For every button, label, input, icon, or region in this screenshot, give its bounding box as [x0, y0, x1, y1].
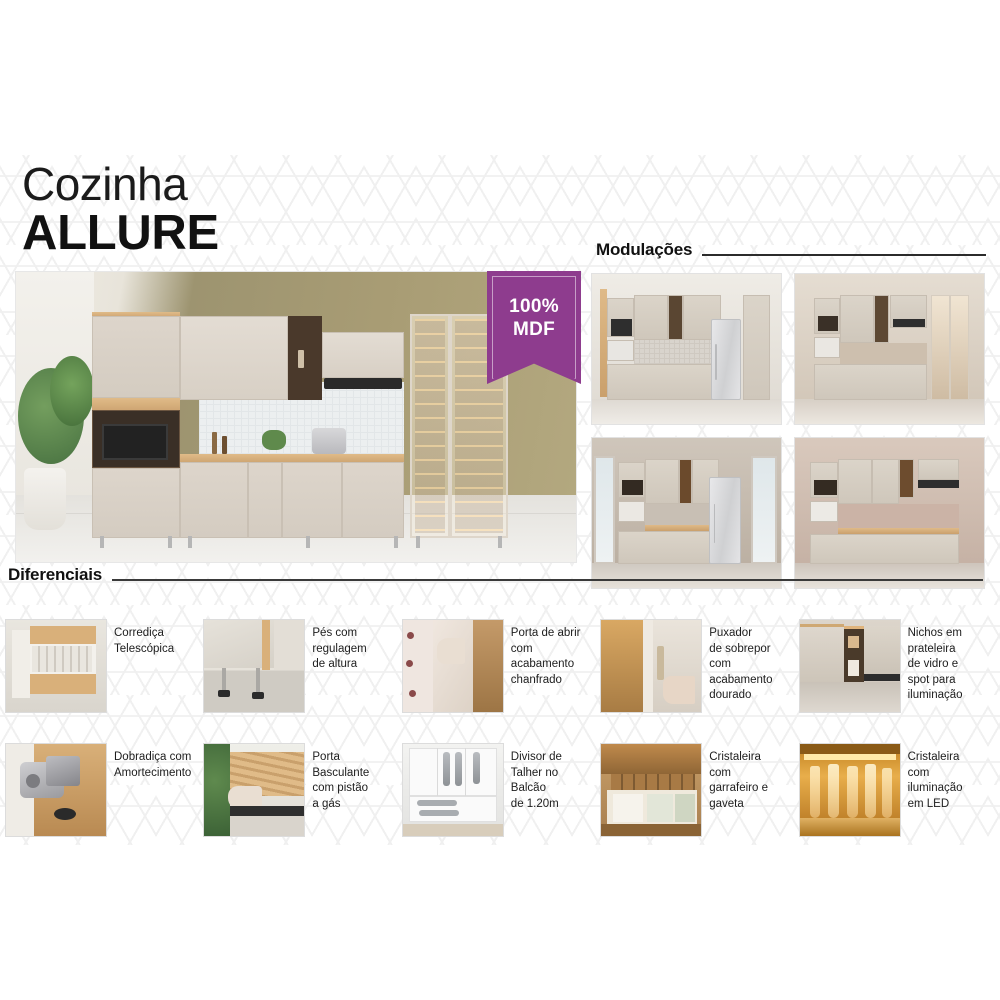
feature-item[interactable]: Nichos em prateleira de vidro e spot par…: [800, 612, 994, 722]
modulation-thumb-2[interactable]: [795, 274, 984, 424]
pes-regulagem-thumb: [204, 620, 304, 712]
badge-line-1: 100%: [487, 295, 581, 318]
feature-item[interactable]: Puxador de sobrepor com acabamento doura…: [601, 612, 795, 722]
modulacoes-heading: Modulações: [596, 240, 986, 260]
corredica-telescopica-thumb: [6, 620, 106, 712]
badge-text: 100% MDF: [487, 295, 581, 341]
feature-item[interactable]: Cristaleira com iluminação em LED: [800, 736, 994, 846]
feature-item[interactable]: Cristaleira com garrafeiro e gaveta: [601, 736, 795, 846]
diferenciais-label: Diferenciais: [8, 565, 102, 585]
badge-line-2: MDF: [487, 318, 581, 341]
modulation-thumb-1[interactable]: [592, 274, 781, 424]
cristaleira-led-thumb: [800, 744, 900, 836]
diferenciais-heading: Diferenciais: [8, 565, 983, 585]
feature-item[interactable]: Corrediça Telescópica: [6, 612, 200, 722]
modulations-grid: [592, 274, 984, 588]
feature-label: Dobradiça com Amortecimento: [114, 750, 191, 781]
page-title: Cozinha ALLURE: [22, 160, 219, 258]
modulacoes-label: Modulações: [596, 240, 692, 260]
feature-item[interactable]: Pés com regulagem de altura: [204, 612, 398, 722]
title-line-allure: ALLURE: [22, 208, 219, 258]
feature-item[interactable]: Divisor de Talher no Balcão de 1.20m: [403, 736, 597, 846]
feature-item[interactable]: Porta de abrir com acabamento chanfrado: [403, 612, 597, 722]
feature-label: Nichos em prateleira de vidro e spot par…: [908, 626, 963, 704]
title-line-cozinha: Cozinha: [22, 160, 219, 208]
heading-rule: [702, 254, 986, 256]
feature-item[interactable]: Dobradiça com Amortecimento: [6, 736, 200, 846]
nichos-prateleira-vidro-thumb: [800, 620, 900, 712]
product-sheet: Cozinha ALLURE Modulações: [0, 0, 1000, 1000]
puxador-dourado-thumb: [601, 620, 701, 712]
feature-label: Puxador de sobrepor com acabamento doura…: [709, 626, 772, 704]
porta-basculante-thumb: [204, 744, 304, 836]
divisor-talher-thumb: [403, 744, 503, 836]
heading-rule: [112, 579, 983, 581]
features-grid: Corrediça Telescópica Pés com regulagem …: [6, 612, 994, 846]
feature-label: Corrediça Telescópica: [114, 626, 174, 657]
feature-label: Porta Basculante com pistão a gás: [312, 750, 369, 812]
feature-item[interactable]: Porta Basculante com pistão a gás: [204, 736, 398, 846]
feature-label: Divisor de Talher no Balcão de 1.20m: [511, 750, 562, 812]
feature-label: Cristaleira com iluminação em LED: [908, 750, 963, 812]
feature-label: Porta de abrir com acabamento chanfrado: [511, 626, 581, 688]
dobradica-amortecimento-thumb: [6, 744, 106, 836]
feature-label: Pés com regulagem de altura: [312, 626, 366, 673]
porta-abrir-chanfrado-thumb: [403, 620, 503, 712]
cristaleira-garrafeiro-thumb: [601, 744, 701, 836]
feature-label: Cristaleira com garrafeiro e gaveta: [709, 750, 768, 812]
